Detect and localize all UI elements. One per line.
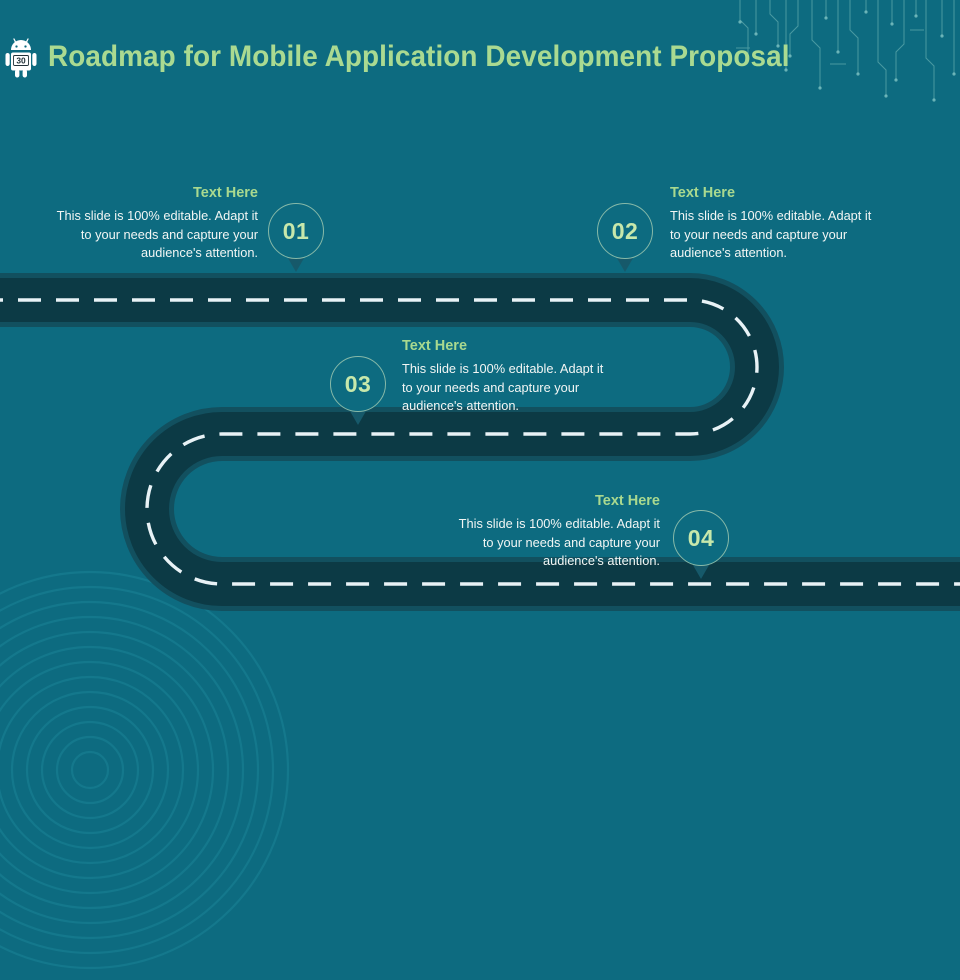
step-heading: Text Here [48,186,258,202]
step-number: 04 [688,527,715,550]
step-body: This slide is 100% editable. Adapt it to… [452,515,660,571]
step-heading: Text Here [452,494,660,510]
step-number: 03 [345,373,372,396]
step-body: This slide is 100% editable. Adapt it to… [402,360,608,416]
step-marker-02[interactable]: 02 [597,203,657,281]
marker-ring: 04 [673,510,729,566]
step-body: This slide is 100% editable. Adapt it to… [670,207,878,263]
step-number: 02 [612,220,639,243]
step-number: 01 [283,220,310,243]
step-marker-03[interactable]: 03 [330,356,390,434]
step-text-04: Text Here This slide is 100% editable. A… [452,494,660,571]
marker-ring: 02 [597,203,653,259]
marker-ring: 01 [268,203,324,259]
step-heading: Text Here [402,339,608,355]
step-text-03: Text Here This slide is 100% editable. A… [402,339,608,416]
step-marker-01[interactable]: 01 [268,203,328,281]
step-body: This slide is 100% editable. Adapt it to… [48,207,258,263]
marker-ring: 03 [330,356,386,412]
step-heading: Text Here [670,186,878,202]
step-text-01: Text Here This slide is 100% editable. A… [48,186,258,263]
step-text-02: Text Here This slide is 100% editable. A… [670,186,878,263]
step-marker-04[interactable]: 04 [673,510,733,588]
slide-canvas: 30 Roadmap for Mobile Application Develo… [0,0,960,720]
